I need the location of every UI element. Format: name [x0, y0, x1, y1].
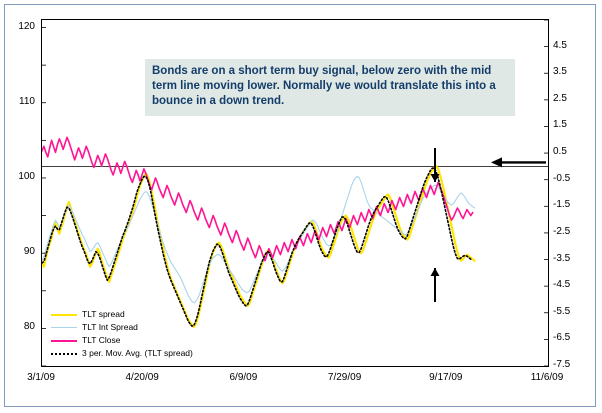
y-axis-right-tick: -7.5 — [553, 359, 587, 370]
y-axis-right-tick: -6.5 — [553, 332, 587, 343]
y-axis-left-tick: 120 — [9, 21, 35, 32]
y-axis-left-tick: 80 — [9, 321, 35, 332]
y-axis-right-tick: 4.5 — [553, 40, 587, 51]
x-axis-tick: 7/29/09 — [315, 372, 375, 383]
legend-swatch-icon — [51, 314, 77, 316]
legend-label: 3 per. Mov. Avg. (TLT spread) — [82, 347, 193, 360]
y-axis-right-tick: 2.5 — [553, 93, 587, 104]
y-axis-right-tick: 3.5 — [553, 66, 587, 77]
y-axis-left-tick: 110 — [9, 96, 35, 107]
chart-frame: Bond Spread Momentum Indicator SELL SIGN… — [4, 4, 596, 407]
x-axis-tick: 3/1/09 — [11, 372, 71, 383]
x-axis-tick: 9/17/09 — [416, 372, 476, 383]
y-axis-right-tick: -1.5 — [553, 199, 587, 210]
y-axis-right-tick: -0.5 — [553, 173, 587, 184]
y-axis-left-tick: 90 — [9, 246, 35, 257]
x-axis-tick: 4/20/09 — [112, 372, 172, 383]
legend-label: TLT Close — [82, 334, 120, 347]
legend-item: TLT Close — [51, 334, 193, 347]
y-axis-right-tick: -2.5 — [553, 226, 587, 237]
x-axis-tick: 6/9/09 — [213, 372, 273, 383]
legend-label: TLT spread — [82, 308, 125, 321]
legend-swatch-icon — [51, 327, 77, 328]
y-axis-right-tick: 1.5 — [553, 119, 587, 130]
y-axis-right-tick: 0.5 — [553, 146, 587, 157]
legend-swatch-icon — [51, 353, 77, 355]
annotation-box: Bonds are on a short term buy signal, be… — [145, 59, 515, 116]
legend-item: TLT spread — [51, 308, 193, 321]
y-axis-right-tick: -3.5 — [553, 253, 587, 264]
legend-item: 3 per. Mov. Avg. (TLT spread) — [51, 347, 193, 360]
legend-item: TLT Int Spread — [51, 321, 193, 334]
y-axis-right-tick: -5.5 — [553, 306, 587, 317]
y-axis-left-tick: 100 — [9, 171, 35, 182]
legend-swatch-icon — [51, 340, 77, 342]
chart-legend: TLT spreadTLT Int SpreadTLT Close3 per. … — [51, 308, 193, 360]
x-axis-tick: 11/6/09 — [517, 372, 577, 383]
legend-label: TLT Int Spread — [82, 321, 138, 334]
y-axis-right-tick: -4.5 — [553, 279, 587, 290]
